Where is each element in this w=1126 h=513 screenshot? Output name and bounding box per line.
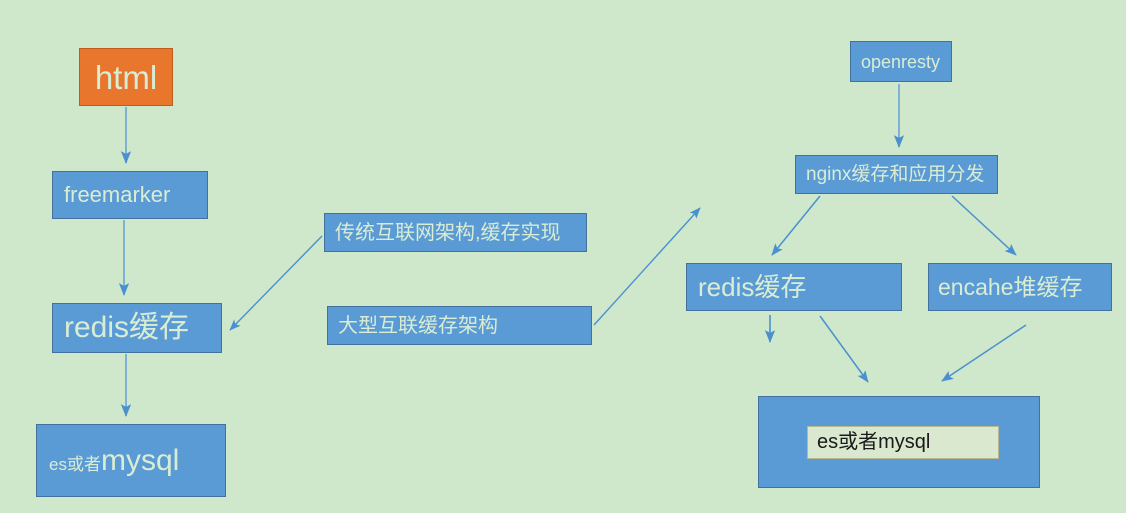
node-es-or-mysql-right-inner-box[interactable]: es或者mysql <box>807 426 999 459</box>
diagram-canvas: html freemarker redis缓存 es或者mysql 传统互联网架… <box>0 0 1126 513</box>
edge-large-arch-to-redis-right <box>594 208 700 325</box>
node-openresty[interactable]: openresty <box>850 41 952 82</box>
node-es-or-mysql-right[interactable]: es或者mysql <box>758 396 1040 488</box>
node-es-or-mysql-left-label: es或者mysql <box>49 446 179 476</box>
node-redis-cache-left[interactable]: redis缓存 <box>52 303 222 353</box>
node-nginx-cache-and-app-distribution[interactable]: nginx缓存和应用分发 <box>795 155 998 194</box>
node-html[interactable]: html <box>79 48 173 106</box>
node-ehcache-heap-cache[interactable]: encahe堆缓存 <box>928 263 1112 311</box>
node-freemarker[interactable]: freemarker <box>52 171 208 219</box>
edge-nginx-to-redis-right <box>772 196 820 255</box>
node-es-or-mysql-left-suffix: mysql <box>101 444 179 477</box>
node-redis-cache-left-label: redis缓存 <box>64 313 189 343</box>
node-es-or-mysql-left-prefix: es或者 <box>49 455 101 474</box>
node-nginx-cache-and-app-distribution-label: nginx缓存和应用分发 <box>806 165 984 184</box>
node-html-label: html <box>95 61 157 94</box>
node-es-or-mysql-left[interactable]: es或者mysql <box>36 424 226 497</box>
node-label-large-scale-architecture[interactable]: 大型互联缓存架构 <box>327 306 592 345</box>
node-redis-cache-right-label: redis缓存 <box>698 274 806 300</box>
node-freemarker-label: freemarker <box>64 184 170 206</box>
node-ehcache-heap-cache-label: encahe堆缓存 <box>938 276 1082 299</box>
edge-redis-right-to-es-mysql <box>820 316 868 382</box>
node-redis-cache-right[interactable]: redis缓存 <box>686 263 902 311</box>
node-openresty-label: openresty <box>861 53 940 71</box>
node-label-traditional-architecture[interactable]: 传统互联网架构,缓存实现 <box>324 213 587 252</box>
node-label-large-scale-architecture-label: 大型互联缓存架构 <box>338 316 498 336</box>
node-label-traditional-architecture-label: 传统互联网架构,缓存实现 <box>335 223 561 243</box>
edge-nginx-to-encache <box>952 196 1016 255</box>
edge-traditional-to-redis <box>230 236 322 330</box>
edge-encache-to-es-mysql <box>942 325 1026 381</box>
node-es-or-mysql-right-label: es或者mysql <box>817 432 930 452</box>
